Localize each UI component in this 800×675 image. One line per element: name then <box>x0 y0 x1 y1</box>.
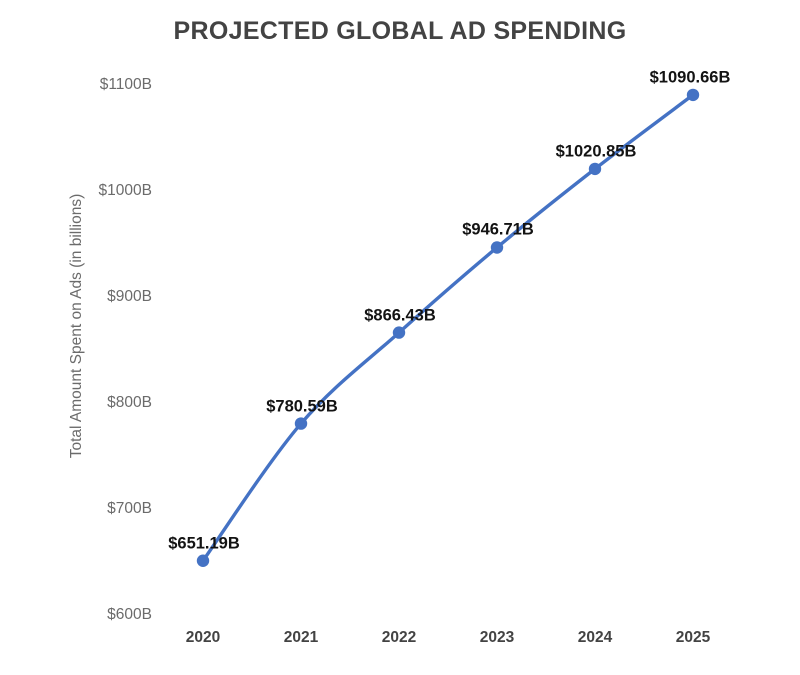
data-point-value-label: $1090.66B <box>650 68 731 87</box>
data-point-labels: $651.19B$780.59B$866.43B$946.71B$1020.85… <box>0 0 800 675</box>
data-point-value-label: $866.43B <box>364 306 436 325</box>
data-point-value-label: $651.19B <box>168 534 240 553</box>
data-point-value-label: $780.59B <box>266 397 338 416</box>
data-point-value-label: $1020.85B <box>556 142 637 161</box>
data-point-value-label: $946.71B <box>462 221 534 240</box>
chart-container: PROJECTED GLOBAL AD SPENDING Total Amoun… <box>0 0 800 675</box>
